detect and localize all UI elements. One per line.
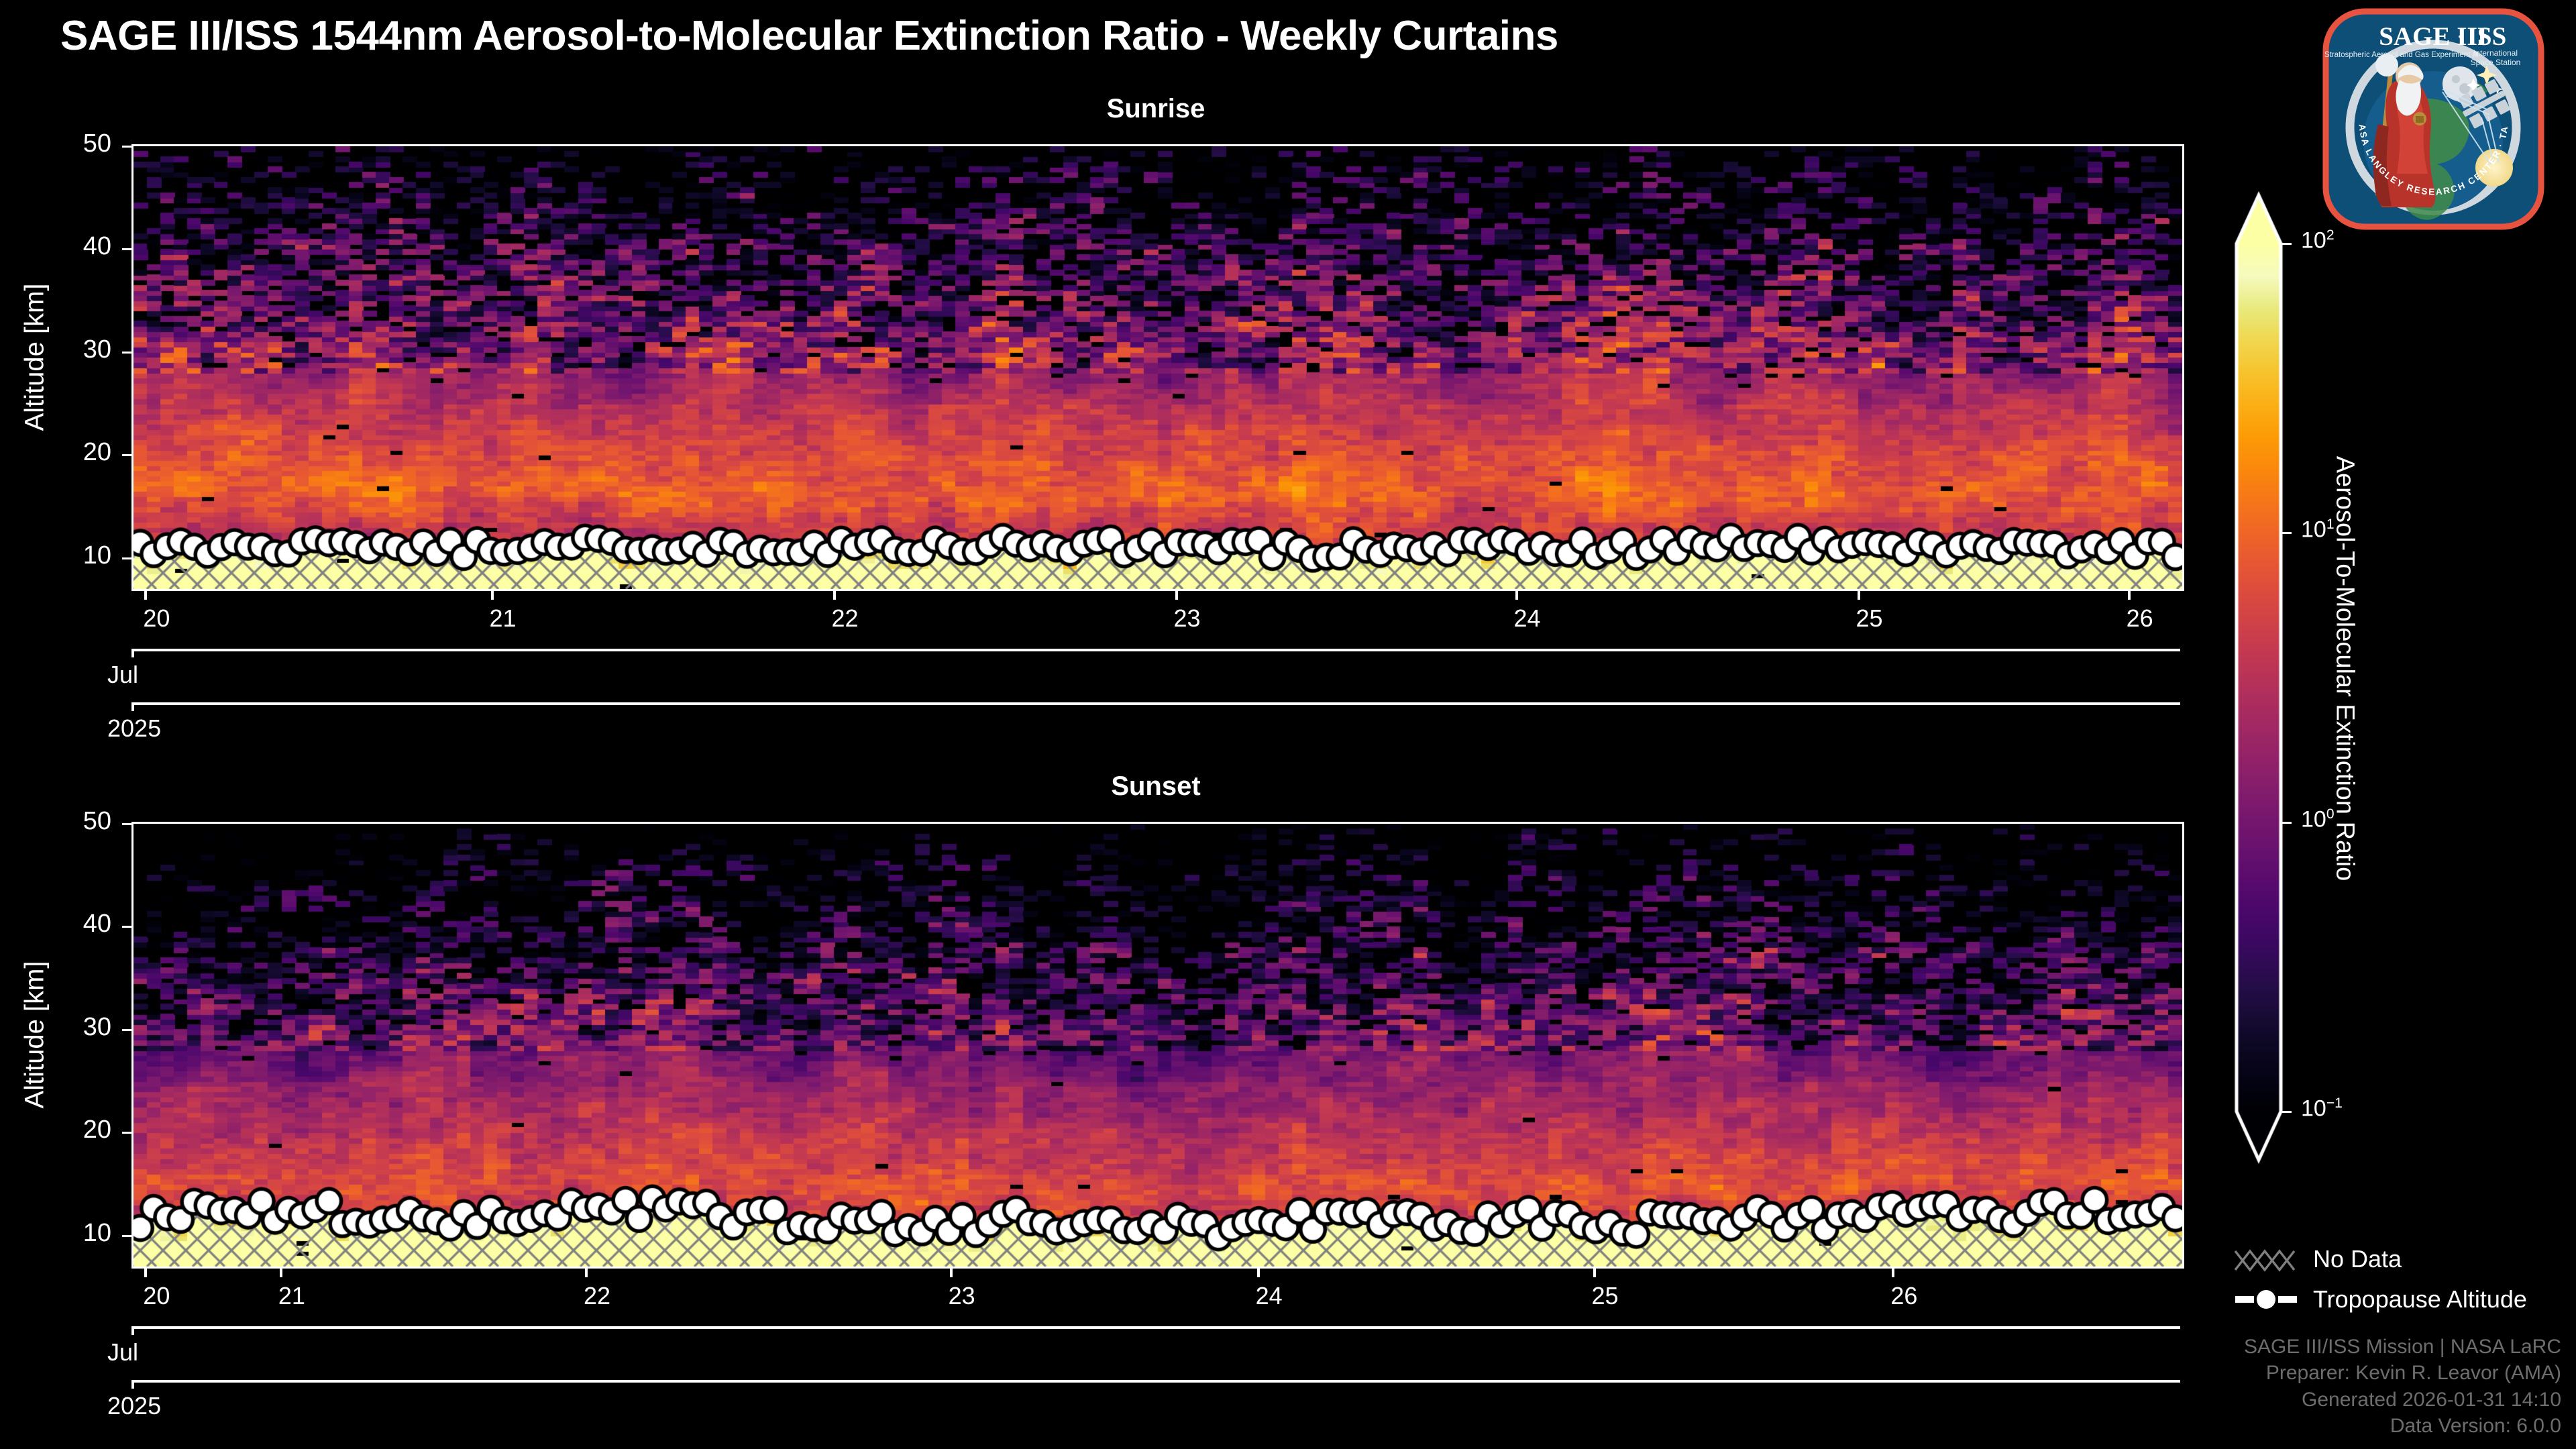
y-tick-mark <box>122 1029 131 1031</box>
panel-title-sunrise: Sunrise <box>131 94 2180 124</box>
legend-label-no-data: No Data <box>2313 1245 2402 1273</box>
x-axis-month-rule <box>131 1326 2180 1329</box>
x-tick-mark <box>491 591 494 600</box>
y-tick-mark <box>122 557 131 559</box>
patch-subtitle-left: Stratospheric Aerosol and Gas Experiment… <box>2324 51 2479 59</box>
y-tick-label: 50 <box>27 807 111 836</box>
x-tick-label-day: 24 <box>1513 604 1540 633</box>
panel-sunrise: Sunrise Altitude [km] 1020304050 2021222… <box>0 94 2214 738</box>
legend-label-tropopause: Tropopause Altitude <box>2313 1285 2527 1313</box>
x-tick-label-day: 23 <box>949 1282 975 1310</box>
colorbar-tick-mark <box>2282 243 2292 245</box>
y-tick-mark <box>122 454 131 456</box>
x-tick-label-day: 24 <box>1256 1282 1283 1310</box>
colorbar-tick-label: 102 <box>2301 227 2334 254</box>
colorbar-tick-label: 100 <box>2301 806 2334 833</box>
x-tick-label-day: 20 <box>143 604 170 633</box>
footer-line-mission: SAGE III/ISS Mission | NASA LaRC <box>2244 1334 2561 1360</box>
heatmap-sunset[interactable] <box>131 822 2184 1269</box>
x-tick-label-day: 22 <box>831 604 858 633</box>
colorbar-tick-mark <box>2282 532 2292 534</box>
x-axis-year-stub <box>131 1380 134 1389</box>
colorbar-tick-mark <box>2282 1111 2292 1113</box>
footer-line-version: Data Version: 6.0.0 <box>2244 1413 2561 1440</box>
x-tick-mark <box>2128 591 2131 600</box>
colorbar-tick-label: 10−1 <box>2301 1095 2343 1122</box>
x-tick-label-day: 23 <box>1174 604 1201 633</box>
y-tick-label: 20 <box>27 1116 111 1144</box>
x-axis-month-rule <box>131 649 2180 651</box>
x-axis-month-label: Jul <box>107 661 138 689</box>
patch-subtitle-right-1: International <box>2473 48 2518 58</box>
page-title: SAGE III/ISS 1544nm Aerosol-to-Molecular… <box>60 12 1558 60</box>
x-tick-label-day: 25 <box>1592 1282 1619 1310</box>
y-tick-mark <box>122 146 131 148</box>
x-tick-mark <box>1892 1269 1894 1277</box>
x-tick-mark <box>585 1269 588 1277</box>
x-axis-year-label: 2025 <box>107 714 161 743</box>
x-tick-mark <box>144 1269 147 1277</box>
heatmap-canvas-sunrise <box>133 146 2182 589</box>
x-tick-mark <box>1858 591 1860 600</box>
x-tick-mark <box>1515 591 1518 600</box>
x-axis-year-rule <box>131 702 2180 705</box>
marker-line-swatch-icon <box>2234 1285 2298 1314</box>
patch-title-iss: ISS <box>2467 22 2507 51</box>
panel-sunset: Sunset Altitude [km] 1020304050 20212223… <box>0 771 2214 1449</box>
x-tick-label-day: 20 <box>143 1282 170 1310</box>
x-tick-mark <box>1593 1269 1596 1277</box>
hatch-swatch-icon <box>2234 1244 2298 1274</box>
patch-dot: · <box>2457 24 2464 48</box>
footer-line-generated: Generated 2026-01-31 14:10 <box>2244 1387 2561 1413</box>
x-tick-mark <box>833 591 836 600</box>
y-tick-mark <box>122 823 131 825</box>
x-tick-mark <box>144 591 147 600</box>
x-tick-label-day: 26 <box>1890 1282 1917 1310</box>
colorbar-axis-label: Aerosol-To-Molecular Extinction Ratio <box>2330 380 2359 957</box>
y-tick-mark <box>122 248 131 250</box>
y-tick-mark <box>122 926 131 928</box>
x-axis-month-stub <box>131 1326 134 1335</box>
panel-title-sunset: Sunset <box>131 771 2180 802</box>
x-tick-label-day: 26 <box>2127 604 2153 633</box>
y-tick-mark <box>122 352 131 354</box>
y-tick-label: 40 <box>27 232 111 261</box>
y-tick-label: 10 <box>27 1219 111 1248</box>
x-tick-mark <box>950 1269 953 1277</box>
colorbar-tick-label: 101 <box>2301 517 2334 543</box>
x-tick-mark <box>280 1269 282 1277</box>
y-tick-label: 30 <box>27 1013 111 1042</box>
y-tick-label: 20 <box>27 438 111 467</box>
heatmap-sunrise[interactable] <box>131 144 2184 591</box>
x-axis-year-label: 2025 <box>107 1392 161 1420</box>
x-axis-year-rule <box>131 1380 2180 1383</box>
x-axis-year-stub <box>131 702 134 711</box>
footer: SAGE III/ISS Mission | NASA LaRC Prepare… <box>2244 1334 2561 1440</box>
x-tick-mark <box>1175 591 1178 600</box>
y-tick-label: 40 <box>27 910 111 938</box>
x-axis-month-stub <box>131 649 134 657</box>
colorbar-gradient <box>2234 191 2314 1164</box>
x-tick-label-day: 21 <box>278 1282 305 1310</box>
patch-subtitle-right-2: Space Station <box>2471 58 2521 67</box>
footer-line-preparer: Preparer: Kevin R. Leavor (AMA) <box>2244 1360 2561 1387</box>
x-tick-label-day: 22 <box>584 1282 610 1310</box>
colorbar-tick-mark <box>2282 822 2292 824</box>
legend: No Data Tropopause Altitude <box>2234 1244 2569 1325</box>
x-axis-month-label: Jul <box>107 1338 138 1366</box>
x-tick-mark <box>1257 1269 1260 1277</box>
y-tick-mark <box>122 1235 131 1237</box>
y-tick-label: 30 <box>27 335 111 364</box>
colorbar[interactable]: 10210110010−1 Aerosol-To-Molecular Extin… <box>2234 191 2435 1197</box>
y-tick-label: 50 <box>27 129 111 158</box>
y-tick-mark <box>122 1132 131 1134</box>
legend-item-no-data[interactable]: No Data <box>2234 1244 2402 1274</box>
heatmap-canvas-sunset <box>133 824 2182 1267</box>
y-tick-label: 10 <box>27 541 111 570</box>
x-tick-label-day: 21 <box>489 604 516 633</box>
legend-item-tropopause[interactable]: Tropopause Altitude <box>2234 1285 2527 1314</box>
x-tick-label-day: 25 <box>1856 604 1882 633</box>
